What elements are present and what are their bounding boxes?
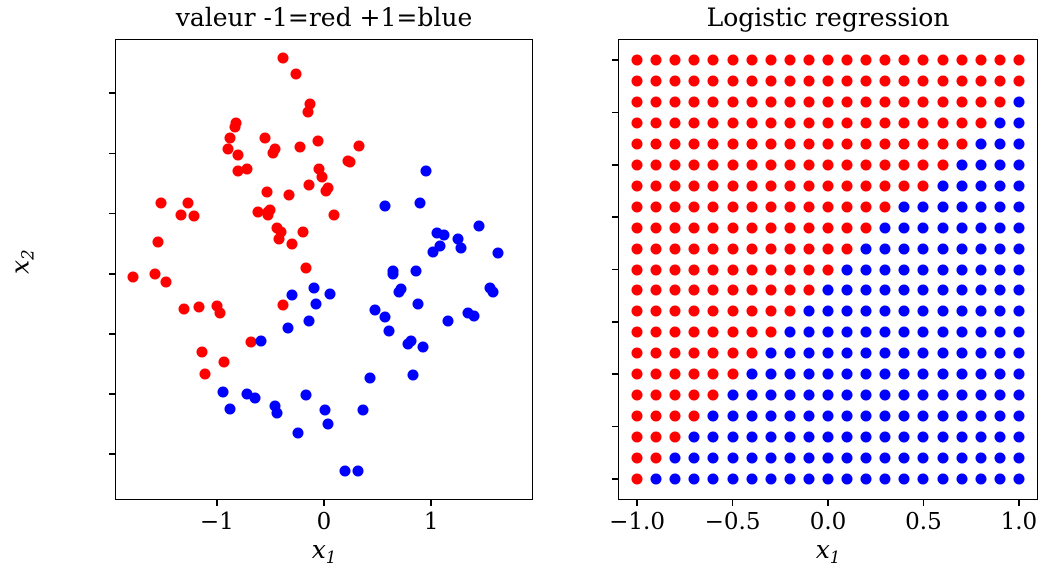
- grid-point-blue: [956, 285, 967, 296]
- grid-point-blue: [784, 348, 795, 359]
- scatter-point-blue: [303, 315, 314, 326]
- grid-point-blue: [994, 327, 1005, 338]
- grid-point-red: [632, 390, 643, 401]
- y-tick-mark: [612, 164, 618, 166]
- grid-point-red: [918, 180, 929, 191]
- scatter-point-blue: [396, 284, 407, 295]
- grid-point-red: [823, 96, 834, 107]
- grid-point-red: [651, 180, 662, 191]
- grid-point-red: [708, 327, 719, 338]
- grid-point-blue: [861, 474, 872, 485]
- grid-point-blue: [994, 201, 1005, 212]
- x-tick-label: 0.0: [810, 511, 847, 534]
- grid-point-blue: [975, 138, 986, 149]
- grid-point-blue: [708, 411, 719, 422]
- scatter-point-blue: [309, 283, 320, 294]
- grid-point-blue: [975, 285, 986, 296]
- grid-point-red: [823, 222, 834, 233]
- grid-point-blue: [823, 390, 834, 401]
- grid-point-blue: [899, 369, 910, 380]
- grid-point-blue: [994, 222, 1005, 233]
- scatter-point-red: [302, 107, 313, 118]
- grid-point-red: [689, 54, 700, 65]
- x-tick-label: 0.5: [905, 511, 942, 534]
- grid-point-red: [823, 54, 834, 65]
- grid-point-red: [803, 75, 814, 86]
- grid-point-blue: [1013, 453, 1024, 464]
- grid-point-red: [651, 432, 662, 443]
- grid-point-blue: [994, 390, 1005, 401]
- grid-point-red: [670, 348, 681, 359]
- grid-point-blue: [975, 474, 986, 485]
- grid-point-blue: [918, 348, 929, 359]
- grid-point-blue: [746, 390, 757, 401]
- grid-point-blue: [765, 348, 776, 359]
- grid-point-red: [784, 180, 795, 191]
- grid-point-blue: [994, 180, 1005, 191]
- grid-point-red: [861, 96, 872, 107]
- grid-point-blue: [823, 453, 834, 464]
- grid-point-red: [651, 390, 662, 401]
- grid-point-red: [899, 138, 910, 149]
- grid-point-red: [842, 138, 853, 149]
- grid-point-red: [670, 243, 681, 254]
- grid-point-red: [670, 117, 681, 128]
- grid-point-blue: [803, 432, 814, 443]
- scatter-point-blue: [488, 286, 499, 297]
- grid-point-blue: [918, 390, 929, 401]
- grid-point-red: [651, 75, 662, 86]
- grid-point-blue: [842, 327, 853, 338]
- grid-point-blue: [956, 327, 967, 338]
- grid-point-red: [632, 453, 643, 464]
- grid-point-red: [632, 327, 643, 338]
- grid-point-blue: [937, 180, 948, 191]
- grid-point-red: [803, 159, 814, 170]
- grid-point-red: [823, 243, 834, 254]
- grid-point-red: [670, 138, 681, 149]
- y-tick-mark: [612, 269, 618, 271]
- grid-point-red: [689, 411, 700, 422]
- grid-point-red: [632, 243, 643, 254]
- grid-point-red: [670, 390, 681, 401]
- grid-point-blue: [937, 432, 948, 443]
- grid-point-blue: [823, 285, 834, 296]
- grid-point-blue: [880, 327, 891, 338]
- grid-point-blue: [937, 306, 948, 317]
- grid-point-blue: [899, 348, 910, 359]
- scatter-point-blue: [420, 166, 431, 177]
- x-tick-mark: [732, 500, 734, 506]
- grid-point-red: [899, 180, 910, 191]
- grid-point-red: [689, 264, 700, 275]
- grid-point-red: [651, 285, 662, 296]
- grid-point-blue: [803, 369, 814, 380]
- grid-point-blue: [803, 390, 814, 401]
- grid-point-red: [803, 222, 814, 233]
- grid-point-red: [708, 243, 719, 254]
- grid-point-red: [746, 243, 757, 254]
- grid-point-blue: [727, 411, 738, 422]
- grid-point-red: [803, 285, 814, 296]
- grid-point-blue: [842, 348, 853, 359]
- left-panel-title: valeur -1=red +1=blue: [115, 5, 533, 31]
- grid-point-blue: [994, 243, 1005, 254]
- grid-point-blue: [994, 411, 1005, 422]
- grid-point-red: [651, 159, 662, 170]
- grid-point-blue: [994, 285, 1005, 296]
- grid-point-red: [670, 264, 681, 275]
- y-tick-mark: [612, 426, 618, 428]
- grid-point-blue: [1013, 243, 1024, 254]
- grid-point-red: [842, 201, 853, 212]
- grid-point-red: [689, 222, 700, 233]
- grid-point-blue: [899, 327, 910, 338]
- scatter-point-red: [283, 190, 294, 201]
- grid-point-blue: [1013, 117, 1024, 128]
- grid-point-red: [632, 369, 643, 380]
- scatter-point-blue: [469, 310, 480, 321]
- grid-point-red: [765, 96, 776, 107]
- grid-point-red: [727, 264, 738, 275]
- scatter-point-blue: [311, 298, 322, 309]
- grid-point-blue: [727, 453, 738, 464]
- scatter-point-red: [252, 207, 263, 218]
- grid-point-blue: [746, 432, 757, 443]
- grid-point-red: [1013, 54, 1024, 65]
- grid-point-red: [746, 159, 757, 170]
- grid-point-red: [670, 222, 681, 233]
- grid-point-blue: [975, 327, 986, 338]
- grid-point-blue: [727, 474, 738, 485]
- scatter-point-blue: [380, 201, 391, 212]
- grid-point-blue: [937, 285, 948, 296]
- grid-point-red: [765, 180, 776, 191]
- scatter-point-blue: [250, 392, 261, 403]
- grid-point-blue: [1013, 285, 1024, 296]
- grid-point-red: [632, 432, 643, 443]
- grid-point-red: [727, 75, 738, 86]
- grid-point-red: [784, 138, 795, 149]
- scatter-point-red: [178, 303, 189, 314]
- grid-point-red: [823, 117, 834, 128]
- grid-point-blue: [708, 453, 719, 464]
- grid-point-red: [803, 117, 814, 128]
- scatter-point-red: [286, 238, 297, 249]
- grid-point-blue: [899, 264, 910, 275]
- scatter-point-blue: [407, 369, 418, 380]
- grid-point-red: [670, 201, 681, 212]
- grid-point-red: [727, 222, 738, 233]
- grid-point-blue: [956, 264, 967, 275]
- grid-point-blue: [1013, 180, 1024, 191]
- grid-point-red: [975, 96, 986, 107]
- scatter-point-red: [156, 197, 167, 208]
- grid-point-blue: [956, 180, 967, 191]
- grid-point-blue: [975, 432, 986, 443]
- scatter-point-red: [278, 300, 289, 311]
- scatter-point-blue: [255, 336, 266, 347]
- grid-point-blue: [937, 369, 948, 380]
- grid-point-red: [937, 75, 948, 86]
- grid-point-red: [937, 96, 948, 107]
- grid-point-red: [689, 327, 700, 338]
- scatter-point-red: [193, 302, 204, 313]
- grid-point-red: [689, 348, 700, 359]
- grid-point-blue: [803, 327, 814, 338]
- grid-point-red: [880, 180, 891, 191]
- grid-point-red: [746, 138, 757, 149]
- x-tick-label: 0: [317, 511, 332, 534]
- scatter-point-red: [176, 209, 187, 220]
- grid-point-red: [975, 75, 986, 86]
- grid-point-red: [632, 411, 643, 422]
- grid-point-red: [689, 96, 700, 107]
- grid-point-red: [784, 201, 795, 212]
- grid-point-red: [784, 306, 795, 317]
- grid-point-blue: [746, 411, 757, 422]
- grid-point-blue: [670, 474, 681, 485]
- grid-point-blue: [975, 348, 986, 359]
- grid-point-red: [842, 96, 853, 107]
- grid-point-red: [937, 159, 948, 170]
- grid-point-red: [765, 159, 776, 170]
- grid-point-blue: [765, 390, 776, 401]
- y-tick-mark: [612, 321, 618, 323]
- grid-point-red: [880, 138, 891, 149]
- grid-point-blue: [956, 411, 967, 422]
- grid-point-red: [765, 327, 776, 338]
- grid-point-blue: [975, 390, 986, 401]
- scatter-point-red: [303, 179, 314, 190]
- grid-point-blue: [880, 222, 891, 233]
- grid-point-blue: [956, 306, 967, 317]
- grid-point-red: [632, 264, 643, 275]
- grid-point-red: [823, 138, 834, 149]
- grid-point-red: [689, 75, 700, 86]
- grid-point-red: [956, 75, 967, 86]
- grid-point-red: [937, 117, 948, 128]
- grid-point-red: [632, 117, 643, 128]
- grid-point-blue: [784, 432, 795, 443]
- grid-point-red: [823, 201, 834, 212]
- grid-point-red: [651, 369, 662, 380]
- left-xaxis-label: x1: [312, 535, 337, 567]
- grid-point-red: [632, 75, 643, 86]
- grid-point-blue: [918, 432, 929, 443]
- grid-point-red: [708, 138, 719, 149]
- scatter-point-blue: [340, 466, 351, 477]
- grid-point-blue: [937, 474, 948, 485]
- x-tick-label: 1.0: [1001, 511, 1038, 534]
- grid-point-blue: [861, 369, 872, 380]
- grid-point-red: [670, 180, 681, 191]
- scatter-point-red: [276, 226, 287, 237]
- scatter-point-blue: [492, 248, 503, 259]
- grid-point-red: [994, 96, 1005, 107]
- x-tick-label: −1: [200, 511, 234, 534]
- grid-point-red: [727, 285, 738, 296]
- grid-point-red: [765, 222, 776, 233]
- grid-point-red: [746, 222, 757, 233]
- grid-point-red: [861, 159, 872, 170]
- grid-point-red: [918, 75, 929, 86]
- scatter-point-blue: [325, 289, 336, 300]
- grid-point-red: [708, 222, 719, 233]
- grid-point-red: [632, 138, 643, 149]
- grid-point-red: [861, 54, 872, 65]
- grid-point-red: [632, 180, 643, 191]
- grid-point-red: [746, 285, 757, 296]
- scatter-point-red: [278, 53, 289, 64]
- y-tick-mark: [612, 216, 618, 218]
- grid-point-red: [670, 432, 681, 443]
- grid-point-red: [880, 201, 891, 212]
- scatter-point-red: [128, 272, 139, 283]
- grid-point-red: [708, 180, 719, 191]
- scatter-point-blue: [282, 322, 293, 333]
- grid-point-red: [746, 117, 757, 128]
- grid-point-red: [937, 138, 948, 149]
- scatter-point-red: [300, 262, 311, 273]
- grid-point-red: [784, 159, 795, 170]
- grid-point-blue: [708, 432, 719, 443]
- grid-point-blue: [899, 453, 910, 464]
- grid-point-red: [918, 159, 929, 170]
- grid-point-blue: [918, 201, 929, 212]
- grid-point-red: [899, 159, 910, 170]
- scatter-point-red: [295, 142, 306, 153]
- grid-point-red: [727, 327, 738, 338]
- scatter-point-blue: [474, 220, 485, 231]
- scatter-point-blue: [387, 268, 398, 279]
- grid-point-red: [956, 54, 967, 65]
- scatter-point-red: [354, 141, 365, 152]
- grid-point-blue: [994, 453, 1005, 464]
- x-tick-mark: [636, 500, 638, 506]
- grid-point-blue: [956, 243, 967, 254]
- grid-point-blue: [899, 243, 910, 254]
- grid-point-red: [861, 117, 872, 128]
- grid-point-blue: [861, 432, 872, 443]
- grid-point-blue: [956, 369, 967, 380]
- grid-point-blue: [861, 411, 872, 422]
- grid-point-blue: [880, 411, 891, 422]
- scatter-point-red: [149, 268, 160, 279]
- left-yaxis-label-sub: 2: [19, 249, 38, 260]
- grid-point-blue: [823, 369, 834, 380]
- x-tick-label: −0.5: [705, 511, 761, 534]
- grid-point-blue: [1013, 411, 1024, 422]
- grid-point-blue: [994, 138, 1005, 149]
- grid-point-blue: [956, 159, 967, 170]
- grid-point-red: [689, 117, 700, 128]
- grid-point-red: [746, 75, 757, 86]
- scatter-point-red: [182, 197, 193, 208]
- grid-point-red: [727, 96, 738, 107]
- grid-point-blue: [765, 474, 776, 485]
- grid-point-red: [746, 54, 757, 65]
- grid-point-red: [765, 75, 776, 86]
- grid-point-red: [994, 54, 1005, 65]
- grid-point-blue: [784, 474, 795, 485]
- grid-point-red: [670, 75, 681, 86]
- scatter-point-red: [316, 172, 327, 183]
- grid-point-blue: [1013, 138, 1024, 149]
- grid-point-blue: [727, 390, 738, 401]
- scatter-point-blue: [415, 197, 426, 208]
- grid-point-red: [651, 201, 662, 212]
- right-xaxis-label-base: x: [816, 535, 830, 564]
- grid-point-blue: [861, 453, 872, 464]
- scatter-point-red: [269, 143, 280, 154]
- grid-point-blue: [784, 390, 795, 401]
- grid-point-blue: [1013, 348, 1024, 359]
- grid-point-blue: [861, 390, 872, 401]
- grid-point-red: [651, 264, 662, 275]
- grid-point-blue: [1013, 369, 1024, 380]
- grid-point-red: [765, 138, 776, 149]
- grid-point-red: [651, 222, 662, 233]
- grid-point-blue: [803, 474, 814, 485]
- grid-point-blue: [975, 222, 986, 233]
- scatter-point-blue: [353, 466, 364, 477]
- y-tick-mark: [109, 153, 115, 155]
- grid-point-blue: [803, 453, 814, 464]
- grid-point-blue: [880, 243, 891, 254]
- scatter-point-red: [215, 308, 226, 319]
- y-tick-mark: [109, 213, 115, 215]
- left-yaxis-label-base: x: [6, 260, 35, 274]
- grid-point-red: [918, 138, 929, 149]
- grid-point-blue: [861, 285, 872, 296]
- grid-point-red: [765, 306, 776, 317]
- grid-point-blue: [880, 369, 891, 380]
- grid-point-red: [899, 75, 910, 86]
- grid-point-blue: [918, 327, 929, 338]
- grid-point-red: [842, 243, 853, 254]
- grid-point-red: [803, 96, 814, 107]
- grid-point-blue: [823, 432, 834, 443]
- grid-point-blue: [880, 474, 891, 485]
- grid-point-red: [765, 54, 776, 65]
- x-tick-mark: [1018, 500, 1020, 506]
- grid-point-red: [727, 117, 738, 128]
- x-tick-mark: [216, 500, 218, 506]
- grid-point-red: [708, 285, 719, 296]
- grid-point-red: [899, 96, 910, 107]
- grid-point-red: [651, 453, 662, 464]
- scatter-point-blue: [357, 404, 368, 415]
- grid-point-red: [918, 54, 929, 65]
- grid-point-blue: [880, 432, 891, 443]
- grid-point-red: [918, 96, 929, 107]
- grid-point-red: [823, 264, 834, 275]
- grid-point-red: [651, 54, 662, 65]
- grid-point-red: [651, 138, 662, 149]
- grid-point-red: [708, 201, 719, 212]
- grid-point-red: [803, 243, 814, 254]
- grid-point-blue: [994, 117, 1005, 128]
- grid-point-red: [784, 264, 795, 275]
- grid-point-red: [842, 75, 853, 86]
- grid-point-blue: [765, 453, 776, 464]
- grid-point-red: [651, 306, 662, 317]
- grid-point-red: [765, 285, 776, 296]
- grid-point-blue: [994, 264, 1005, 275]
- grid-point-blue: [651, 474, 662, 485]
- scatter-point-red: [196, 346, 207, 357]
